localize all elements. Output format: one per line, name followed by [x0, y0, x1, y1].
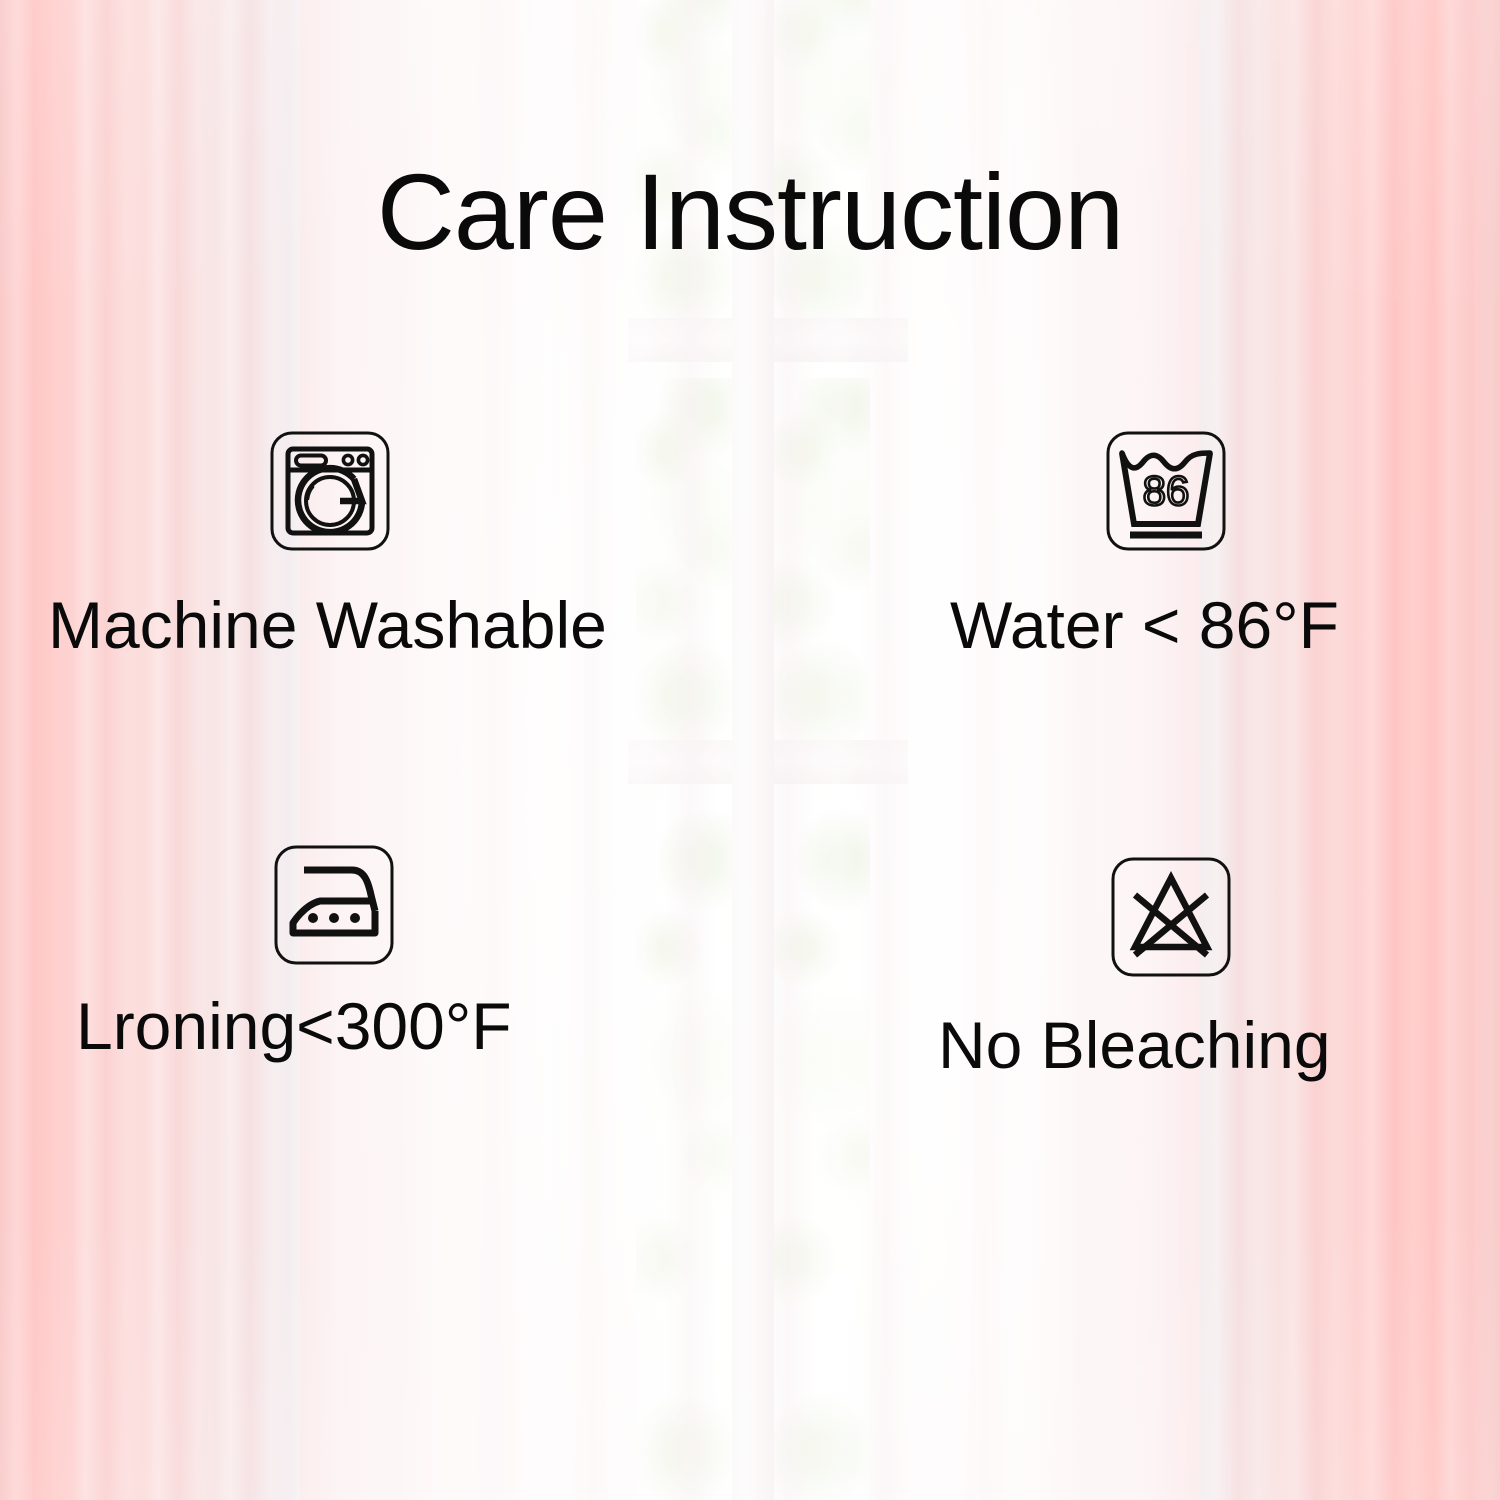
- page-title: Care Instruction: [0, 155, 1500, 268]
- wash-tub-temperature-value: 86: [1143, 467, 1190, 514]
- wash-tub-icon: 86: [1104, 429, 1228, 553]
- instruction-label-ironing-temperature: Lroning<300°F: [76, 993, 512, 1059]
- no-bleach-triangle-icon: [1109, 855, 1233, 979]
- instruction-label-machine-washable: Machine Washable: [48, 592, 607, 658]
- overlay-content: Care Instruction Machine Washable: [0, 0, 1500, 1500]
- instruction-label-water-temperature: Water < 86°F: [950, 592, 1339, 658]
- iron-icon: [272, 843, 396, 967]
- instruction-label-no-bleaching: No Bleaching: [938, 1012, 1331, 1078]
- care-instruction-graphic: Care Instruction Machine Washable: [0, 0, 1500, 1500]
- washing-machine-icon: [268, 429, 392, 553]
